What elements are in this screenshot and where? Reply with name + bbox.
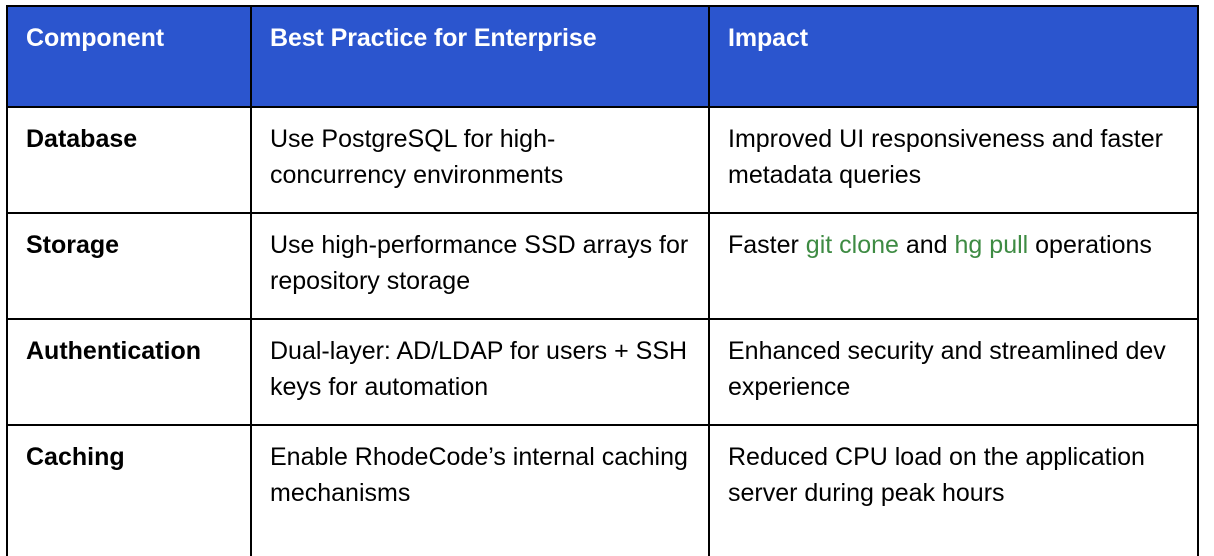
cell-component: Authentication (7, 319, 251, 425)
cell-impact: Enhanced security and streamlined dev ex… (709, 319, 1198, 425)
cell-best-practice: Dual-layer: AD/LDAP for users + SSH keys… (251, 319, 709, 425)
inline-text: operations (1028, 231, 1152, 259)
cell-impact: Improved UI responsiveness and faster me… (709, 107, 1198, 213)
inline-text: Enhanced security and streamlined dev ex… (728, 337, 1166, 401)
column-header-best-practice: Best Practice for Enterprise (251, 6, 709, 107)
table-row: Storage Use high-performance SSD arrays … (7, 213, 1198, 319)
table-header: Component Best Practice for Enterprise I… (7, 6, 1198, 107)
cell-component: Storage (7, 213, 251, 319)
table-row: Authentication Dual-layer: AD/LDAP for u… (7, 319, 1198, 425)
cell-best-practice: Enable RhodeCode’s internal caching mech… (251, 425, 709, 556)
cell-impact: Reduced CPU load on the application serv… (709, 425, 1198, 556)
column-header-component: Component (7, 6, 251, 107)
cell-component: Database (7, 107, 251, 213)
inline-code: git clone (806, 231, 899, 259)
best-practice-table: Component Best Practice for Enterprise I… (6, 5, 1199, 556)
inline-text: Improved UI responsiveness and faster me… (728, 125, 1163, 189)
inline-code: hg pull (955, 231, 1029, 259)
inline-text: Reduced CPU load on the application serv… (728, 443, 1145, 507)
cell-best-practice: Use PostgreSQL for high-concurrency envi… (251, 107, 709, 213)
table-row: Caching Enable RhodeCode’s internal cach… (7, 425, 1198, 556)
column-header-impact: Impact (709, 6, 1198, 107)
table-header-row: Component Best Practice for Enterprise I… (7, 6, 1198, 107)
cell-impact: Faster git clone and hg pull operations (709, 213, 1198, 319)
cell-best-practice: Use high-performance SSD arrays for repo… (251, 213, 709, 319)
inline-text: Faster (728, 231, 806, 259)
inline-text: and (899, 231, 955, 259)
document-canvas: Component Best Practice for Enterprise I… (0, 0, 1214, 556)
table-row: Database Use PostgreSQL for high-concurr… (7, 107, 1198, 213)
table-body: Database Use PostgreSQL for high-concurr… (7, 107, 1198, 556)
cell-component: Caching (7, 425, 251, 556)
